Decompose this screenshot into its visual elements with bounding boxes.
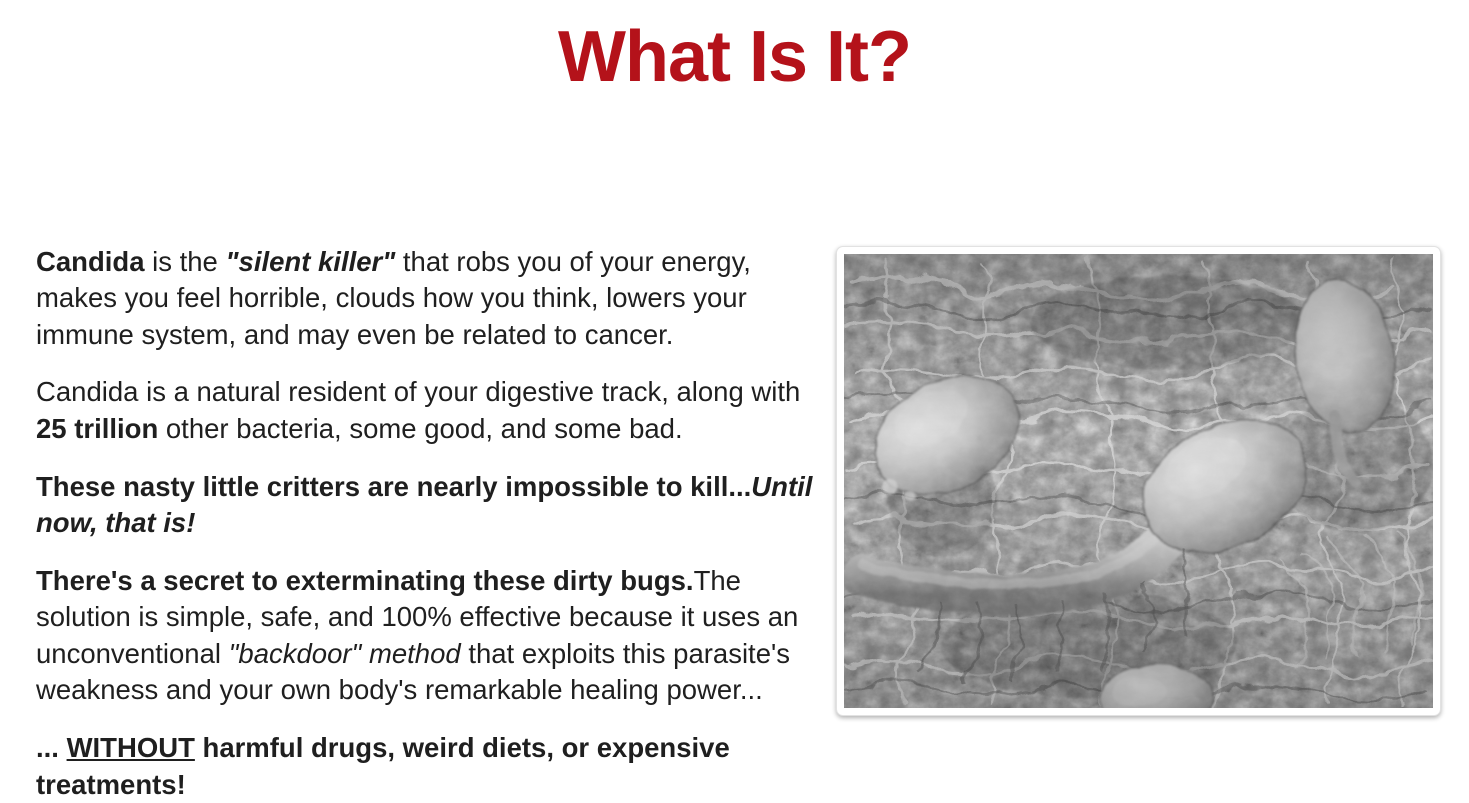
candida-photo-frame bbox=[836, 246, 1441, 716]
run-p2-head: Candida is a natural resident of your di… bbox=[36, 376, 800, 407]
run-is-the: is the bbox=[144, 246, 225, 277]
page-title: What Is It? bbox=[0, 0, 1469, 105]
paragraph-5: ... WITHOUT harmful drugs, weird diets, … bbox=[36, 730, 826, 803]
paragraph-4: There's a secret to exterminating these … bbox=[36, 563, 826, 709]
paragraph-3: These nasty little critters are nearly i… bbox=[36, 469, 826, 542]
candida-sem-micrograph bbox=[844, 254, 1433, 708]
run-backdoor-method: "backdoor" method bbox=[229, 638, 461, 669]
paragraph-1: Candida is the "silent killer" that robs… bbox=[36, 244, 826, 354]
run-without: WITHOUT bbox=[67, 732, 195, 763]
run-ellipsis: ... bbox=[36, 732, 67, 763]
run-nasty-critters: These nasty little critters are nearly i… bbox=[36, 471, 751, 502]
run-secret-exterminating: There's a secret to exterminating these … bbox=[36, 565, 694, 596]
run-silent-killer: "silent killer" bbox=[226, 246, 396, 277]
run-candida: Candida bbox=[36, 246, 144, 277]
run-25-trillion: 25 trillion bbox=[36, 413, 158, 444]
paragraph-2: Candida is a natural resident of your di… bbox=[36, 374, 826, 447]
run-p2-tail: other bacteria, some good, and some bad. bbox=[158, 413, 682, 444]
body-copy: Candida is the "silent killer" that robs… bbox=[36, 244, 826, 803]
page-root: What Is It? Candida is the "silent kille… bbox=[0, 0, 1469, 756]
